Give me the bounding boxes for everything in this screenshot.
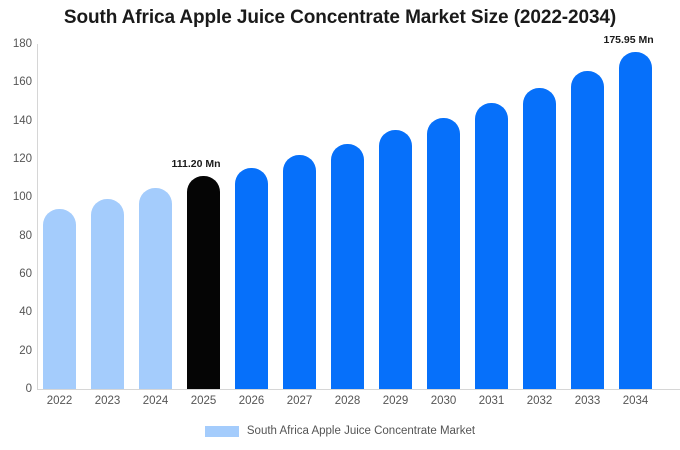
y-axis: 020406080100120140160180 — [0, 0, 32, 450]
bar-group: 2033 — [567, 0, 615, 450]
bar-2030[interactable] — [427, 118, 460, 389]
x-axis-tick-label-2033: 2033 — [571, 395, 604, 450]
bars-layer: 2022202320242025202620272028202920302031… — [37, 0, 680, 450]
bar-group: 2029 — [375, 0, 423, 450]
bar-2025[interactable] — [187, 176, 220, 389]
legend-label-series-1: South Africa Apple Juice Concentrate Mar… — [247, 425, 475, 437]
bar-2031[interactable] — [475, 103, 508, 389]
bar-2028[interactable] — [331, 144, 364, 389]
bar-2023[interactable] — [91, 199, 124, 389]
x-axis-tick-label-2028: 2028 — [331, 395, 364, 450]
x-axis-tick-label-2034: 2034 — [619, 395, 652, 450]
x-axis-tick-label-2027: 2027 — [283, 395, 316, 450]
x-axis-tick-label-2026: 2026 — [235, 395, 268, 450]
value-label-2025: 111.20 Mn — [172, 158, 221, 170]
bar-group: 2026 — [231, 0, 279, 450]
x-axis-tick-label-2025: 2025 — [187, 395, 220, 450]
x-axis-tick-label-2030: 2030 — [427, 395, 460, 450]
y-axis-tick-label: 180 — [2, 38, 32, 50]
y-axis-tick-label: 40 — [2, 306, 32, 318]
value-label-2034: 175.95 Mn — [604, 34, 654, 46]
bar-group: 2023 — [87, 0, 135, 450]
x-axis-tick-label-2032: 2032 — [523, 395, 556, 450]
bar-2032[interactable] — [523, 88, 556, 389]
bar-2033[interactable] — [571, 71, 604, 389]
x-axis-tick-label-2024: 2024 — [139, 395, 172, 450]
x-axis-tick-label-2022: 2022 — [43, 395, 76, 450]
bar-2034[interactable] — [619, 52, 652, 389]
bar-group: 2028 — [327, 0, 375, 450]
bar-2029[interactable] — [379, 130, 412, 389]
bar-2026[interactable] — [235, 168, 268, 389]
x-axis-tick-label-2029: 2029 — [379, 395, 412, 450]
y-axis-tick-label: 0 — [2, 383, 32, 395]
bar-group: 2034 — [615, 0, 663, 450]
y-axis-tick-label: 120 — [2, 153, 32, 165]
bar-2027[interactable] — [283, 155, 316, 389]
y-axis-tick-label: 60 — [2, 268, 32, 280]
x-axis-tick-label-2023: 2023 — [91, 395, 124, 450]
bar-2024[interactable] — [139, 188, 172, 389]
bar-group: 2025 — [183, 0, 231, 450]
bar-chart: South Africa Apple Juice Concentrate Mar… — [0, 0, 680, 450]
bar-2022[interactable] — [43, 209, 76, 389]
bar-group: 2031 — [471, 0, 519, 450]
y-axis-tick-label: 20 — [2, 345, 32, 357]
y-axis-tick-label: 100 — [2, 191, 32, 203]
bar-group: 2022 — [39, 0, 87, 450]
bar-group: 2027 — [279, 0, 327, 450]
legend-swatch-series-1 — [205, 426, 239, 437]
legend: South Africa Apple Juice Concentrate Mar… — [0, 425, 680, 437]
y-axis-tick-label: 140 — [2, 115, 32, 127]
bar-group: 2032 — [519, 0, 567, 450]
y-axis-tick-label: 160 — [2, 76, 32, 88]
x-axis-tick-label-2031: 2031 — [475, 395, 508, 450]
bar-group: 2024 — [135, 0, 183, 450]
y-axis-tick-label: 80 — [2, 230, 32, 242]
bar-group: 2030 — [423, 0, 471, 450]
